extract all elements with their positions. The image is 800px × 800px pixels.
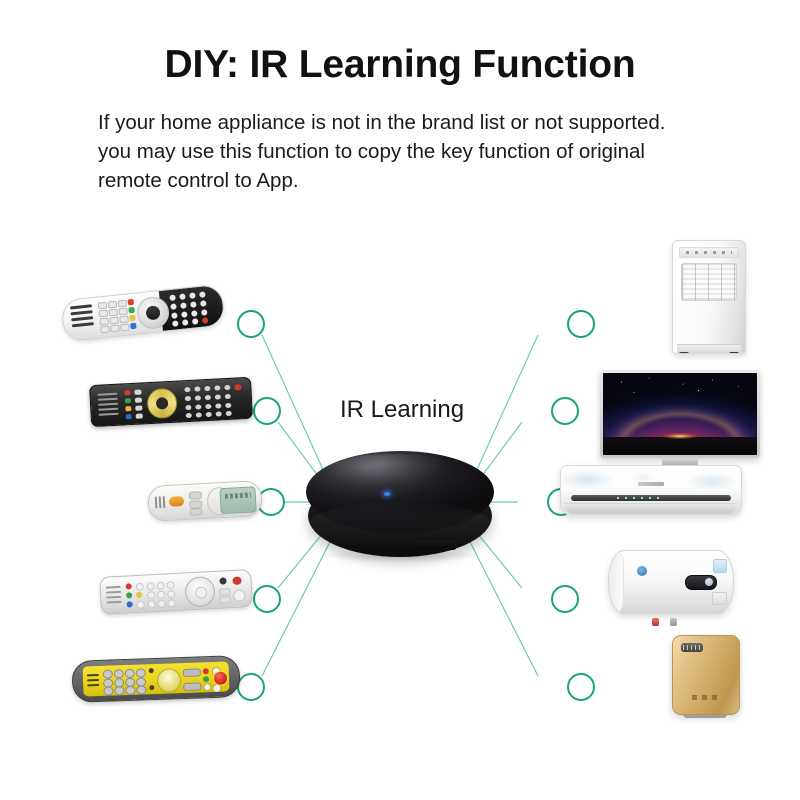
btn	[215, 403, 221, 408]
btn	[118, 308, 128, 316]
color-btn-blue	[130, 323, 137, 330]
btn	[226, 411, 232, 416]
air-purifier-body	[672, 635, 740, 715]
yellow-universal-remote[interactable]	[71, 647, 239, 709]
hub-led-indicator	[384, 492, 390, 496]
btn	[195, 404, 201, 409]
silver-remote-navigation-wheel	[184, 576, 216, 608]
white-tv-remote-keypad-zone	[159, 285, 225, 331]
ir-blaster-hub[interactable]	[300, 445, 500, 563]
water-heater-label-bottom	[712, 592, 727, 605]
page-title: DIY: IR Learning Function	[0, 45, 800, 86]
color-btn-red	[124, 390, 130, 395]
btn	[103, 686, 113, 695]
split-ac-decoration	[561, 466, 741, 496]
btn	[108, 309, 118, 317]
power-btn	[234, 384, 241, 390]
btn	[206, 412, 212, 417]
split-ac-air-vent	[565, 503, 737, 514]
node-ring-left-4	[254, 586, 280, 612]
btn	[119, 315, 129, 323]
node-ring-right-5	[568, 674, 594, 700]
split-ac-indicator-strip	[571, 495, 731, 501]
air-purifier-vent	[681, 643, 703, 652]
btn	[136, 668, 146, 677]
btn	[166, 581, 174, 589]
water-heater-brand-logo	[637, 566, 647, 576]
btn	[189, 508, 202, 516]
btn	[125, 669, 135, 678]
btn	[215, 394, 221, 399]
btn	[149, 668, 154, 673]
btn	[87, 674, 99, 676]
color-btn-blue	[126, 601, 132, 607]
black-tv-remote-dpad	[146, 388, 178, 420]
btn	[136, 413, 143, 418]
btn	[120, 323, 130, 331]
btn	[103, 669, 113, 678]
white-tv-remote-body	[60, 284, 226, 343]
portable-ac-vent-grille	[681, 263, 737, 301]
btn	[214, 385, 220, 390]
btn	[106, 586, 121, 589]
btn	[87, 684, 99, 686]
color-btn-green	[128, 307, 135, 314]
water-heater-label-top	[713, 559, 727, 573]
yellow-remote-navigation-wheel	[157, 668, 182, 693]
btn	[205, 395, 211, 400]
color-btn-yellow	[125, 406, 131, 411]
description-line-2: you may use this function to copy the ke…	[98, 137, 740, 166]
hub-dome	[306, 451, 494, 533]
silver-universal-remote-body	[99, 569, 253, 615]
tv-screen-horizon	[603, 437, 757, 455]
water-heater-end-cap	[609, 551, 624, 613]
btn	[135, 397, 142, 402]
btn	[70, 304, 92, 309]
btn	[108, 301, 118, 309]
btn	[184, 387, 190, 392]
btn	[183, 682, 201, 691]
btn	[109, 317, 119, 325]
tv-screen	[603, 373, 757, 455]
portable-ac-control-panel	[679, 247, 739, 258]
air-conditioner-remote[interactable]	[147, 472, 261, 528]
television[interactable]	[600, 370, 760, 474]
yellow-universal-remote-body	[71, 655, 240, 703]
btn	[157, 582, 165, 590]
btn	[183, 668, 201, 677]
power-btn	[232, 577, 241, 585]
btn	[189, 491, 202, 500]
tv-bezel	[600, 370, 760, 458]
poster-canvas: DIY: IR Learning Function If your home a…	[0, 0, 800, 800]
ac-remote-power-button	[169, 496, 185, 507]
btn	[98, 403, 118, 406]
node-ring-right-4	[552, 586, 578, 612]
air-conditioner-remote-body	[147, 480, 263, 522]
btn	[98, 408, 118, 411]
btn	[100, 326, 110, 334]
color-btn-green	[203, 676, 209, 682]
split-air-conditioner[interactable]	[560, 465, 740, 525]
btn	[136, 601, 144, 609]
portable-air-conditioner[interactable]	[672, 240, 744, 358]
water-heater-hot-inlet	[652, 618, 659, 626]
btn	[147, 600, 155, 608]
air-purifier-indicator-lights	[692, 695, 720, 700]
black-tv-remote[interactable]	[89, 368, 252, 434]
btn	[106, 596, 121, 599]
color-btn-yellow	[129, 315, 136, 322]
btn	[106, 591, 121, 594]
tv-stand-neck	[662, 458, 698, 465]
btn	[219, 596, 230, 604]
btn	[225, 403, 231, 408]
node-ring-right-1	[568, 311, 594, 337]
tv-screen-glow	[662, 432, 699, 439]
btn	[147, 582, 155, 590]
color-btn-blue	[126, 414, 132, 419]
btn	[125, 686, 135, 695]
btn	[159, 496, 162, 508]
btn	[204, 386, 210, 391]
header: DIY: IR Learning Function If your home a…	[0, 0, 800, 195]
btn	[163, 496, 166, 508]
hub-usb-port	[413, 540, 457, 550]
water-heater-tank	[608, 550, 734, 614]
btn	[136, 685, 146, 694]
ir-learning-diagram: IR Learning	[0, 200, 800, 800]
hub-label: IR Learning	[340, 396, 464, 424]
btn	[149, 685, 154, 690]
btn	[147, 591, 155, 599]
btn	[194, 386, 200, 391]
btn	[99, 318, 109, 326]
portable-ac-body	[672, 240, 746, 354]
btn	[185, 405, 191, 410]
btn	[118, 300, 128, 308]
btn	[224, 385, 230, 390]
btn	[71, 310, 93, 315]
btn	[72, 322, 94, 327]
btn	[205, 404, 211, 409]
silver-universal-remote[interactable]	[99, 561, 252, 621]
btn	[99, 413, 119, 416]
btn	[196, 412, 202, 417]
color-btn-red	[128, 299, 135, 306]
btn	[233, 589, 246, 602]
btn	[167, 599, 175, 607]
btn	[167, 590, 175, 598]
btn	[99, 310, 109, 318]
black-tv-remote-body	[89, 377, 253, 427]
btn	[136, 583, 144, 591]
description-text: If your home appliance is not in the bra…	[0, 108, 800, 195]
btn	[134, 389, 141, 394]
btn	[106, 601, 121, 604]
btn	[186, 413, 192, 418]
color-btn-red	[203, 668, 209, 674]
btn	[71, 316, 93, 321]
btn	[87, 679, 99, 681]
split-ac-body	[560, 465, 742, 515]
ac-remote-lcd-display	[219, 486, 256, 514]
node-ring-left-2	[254, 398, 280, 424]
color-btn-green	[125, 398, 131, 403]
color-btn-red	[126, 583, 132, 589]
btn	[98, 302, 108, 310]
split-ac-brand-mark	[638, 482, 664, 486]
description-line-1: If your home appliance is not in the bra…	[98, 108, 740, 137]
water-heater-cold-inlet	[670, 618, 677, 626]
node-ring-left-1	[238, 311, 264, 337]
btn	[98, 393, 118, 396]
yellow-remote-faceplate	[83, 661, 230, 696]
water-heater-control-panel	[685, 575, 717, 590]
btn	[114, 686, 124, 695]
color-btn-yellow	[136, 592, 142, 598]
btn	[195, 395, 201, 400]
portable-ac-base	[677, 344, 741, 353]
btn	[216, 411, 222, 416]
node-ring-right-2	[552, 398, 578, 424]
btn	[110, 324, 120, 332]
btn	[135, 405, 142, 410]
btn	[225, 394, 231, 399]
btn	[98, 398, 118, 401]
btn	[219, 588, 230, 596]
description-line-3: remote control to App.	[98, 166, 740, 195]
water-heater[interactable]	[608, 550, 732, 622]
air-purifier[interactable]	[672, 635, 738, 721]
btn	[114, 669, 124, 678]
color-btn-green	[126, 592, 132, 598]
btn	[219, 577, 226, 584]
btn	[203, 683, 211, 691]
btn	[157, 591, 165, 599]
btn	[157, 600, 165, 608]
btn	[155, 496, 158, 508]
btn	[185, 396, 191, 401]
node-ring-left-5	[238, 674, 264, 700]
